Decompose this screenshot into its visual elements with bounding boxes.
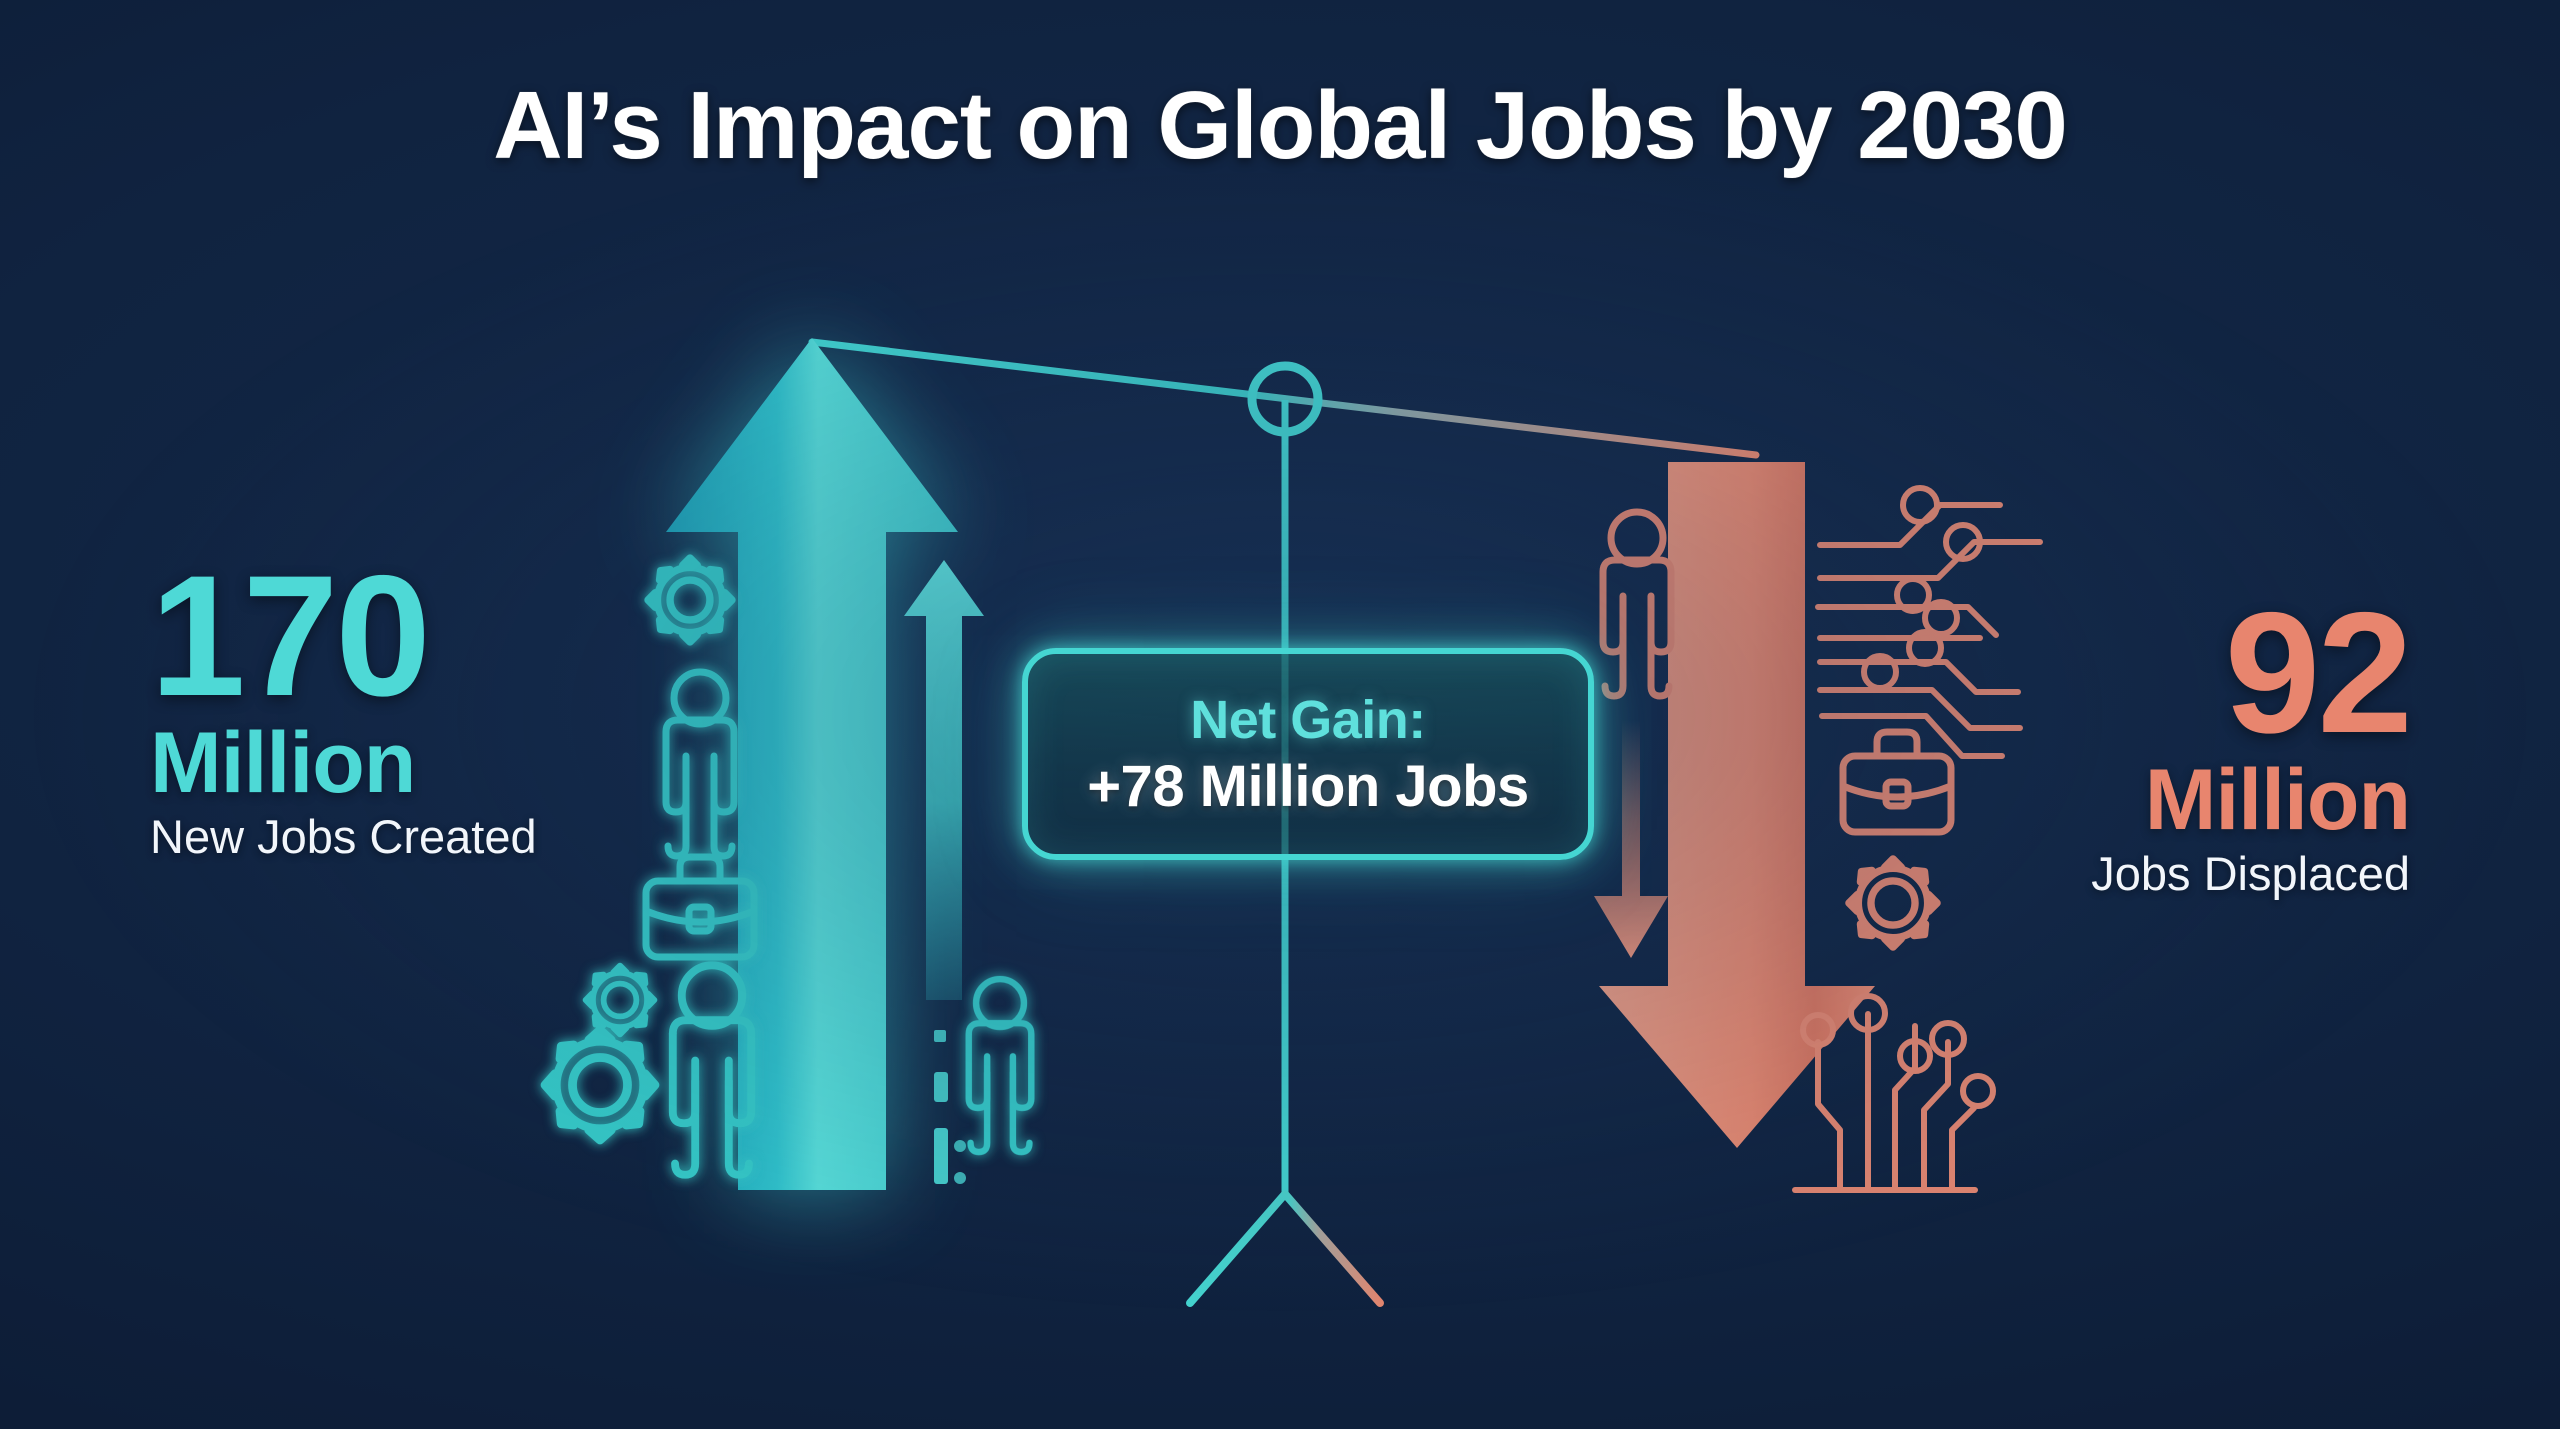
gear-icon: [1849, 859, 1937, 947]
net-gain-value: +78 Million Jobs: [1087, 753, 1529, 820]
fulcrum-icon: [1063, 1194, 1505, 1304]
stat-unit-new-jobs: Million: [150, 718, 537, 808]
secondary-growth-arrow-up: [904, 560, 984, 1184]
person-icon: [969, 979, 1032, 1152]
net-gain-title: Net Gain:: [1190, 689, 1426, 751]
briefcase-icon: [1843, 732, 1951, 832]
growth-arrow-up: [666, 338, 958, 1190]
net-gain-badge: Net Gain: +78 Million Jobs: [1022, 648, 1594, 860]
person-icon: [666, 672, 734, 856]
briefcase-icon: [646, 857, 754, 957]
stat-block-new-jobs: 170 Million New Jobs Created: [150, 555, 537, 865]
gear-icon: [648, 558, 732, 642]
stat-label-jobs-displaced: Jobs Displaced: [2091, 846, 2410, 902]
person-icon: [1603, 512, 1671, 696]
circuit-icon: [1818, 488, 2040, 756]
gear-icon: [545, 1030, 655, 1140]
gear-icon: [586, 966, 655, 1035]
stat-value-new-jobs: 170: [150, 555, 537, 718]
stat-unit-jobs-displaced: Million: [2091, 755, 2410, 845]
stat-value-jobs-displaced: 92: [2091, 592, 2410, 755]
stat-label-new-jobs: New Jobs Created: [150, 809, 537, 865]
stat-block-jobs-displaced: 92 Million Jobs Displaced: [2091, 592, 2410, 902]
page-title: AI’s Impact on Global Jobs by 2030: [0, 78, 2560, 174]
infographic-canvas: AI’s Impact on Global Jobs by 2030 170 M…: [0, 0, 2560, 1429]
secondary-decline-arrow-down: [1594, 720, 1668, 958]
